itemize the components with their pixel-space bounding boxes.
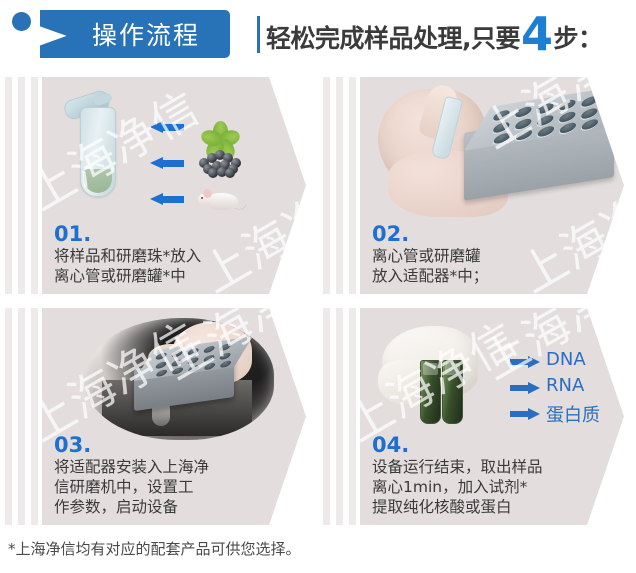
decorative-strip: [349, 77, 356, 294]
arrow-left-icon: [150, 193, 184, 205]
section-banner-label: 操作流程: [40, 10, 230, 58]
decorative-strip: [18, 308, 25, 525]
output-label-dna: DNA: [546, 349, 586, 370]
grinder-machine-photo: [84, 318, 274, 440]
step-text-line: 设备运行结束，取出样品: [372, 457, 622, 477]
decorative-strip: [323, 308, 330, 525]
page-title-suffix: 步：: [554, 19, 603, 55]
footer-note: *上海净信均有对应的配套产品可供您选择。: [8, 538, 301, 559]
header-divider: [257, 16, 260, 53]
page-title-step-count: 4: [521, 18, 553, 50]
step-text-line: 离心管或研磨罐*中: [54, 266, 304, 286]
step-panel-04: DNA RNA 蛋白质 上海净信 上海净信 04. 设备运行结束，取出样品 离心…: [360, 308, 624, 525]
step-number-02: 02.: [372, 223, 622, 245]
step-text-line: 信研磨机中，设置工: [54, 477, 304, 497]
step-number-03: 03.: [54, 434, 304, 456]
decorative-dot-icon: [12, 12, 31, 31]
sample-vial-icon: [420, 360, 441, 424]
step-text-line: 将适配器安装入上海净: [54, 457, 304, 477]
sample-vial-icon: [442, 360, 463, 424]
decorative-strip: [336, 77, 343, 294]
arrow-right-icon: [510, 382, 540, 394]
adapter-block-icon: [464, 109, 614, 201]
decorative-strip: [323, 77, 330, 294]
decorative-strip: [18, 77, 25, 294]
decorative-strip: [31, 308, 38, 525]
step-caption-04: 04. 设备运行结束，取出样品 离心1min，加入试剂* 提取纯化核酸或蛋白: [372, 434, 622, 517]
step-panel-01: 上海净信 上海净信 01. 将样品和研磨珠*放入 离心管或研磨罐*中: [42, 77, 306, 294]
arrow-left-icon: [150, 121, 184, 133]
step-card-03: 上海净信 上海净信 03. 将适配器安装入上海净 信研磨机中，设置工 作参数，启…: [0, 301, 318, 532]
decorative-strip: [5, 308, 12, 525]
steps-grid: 上海净信 上海净信 01. 将样品和研磨珠*放入 离心管或研磨罐*中: [0, 70, 636, 532]
page-header: 操作流程 轻松完成样品处理,只要 4 步：: [0, 0, 636, 68]
watermark: 上海净信: [42, 77, 210, 224]
step-card-04: DNA RNA 蛋白质 上海净信 上海净信 04. 设备运行结束，取出样品 离心…: [318, 301, 636, 532]
step-text-line: 将样品和研磨珠*放入: [54, 246, 304, 266]
page-title-prefix: 轻松完成样品处理,只要: [266, 19, 520, 55]
decorative-strip: [349, 308, 356, 525]
step-card-01: 上海净信 上海净信 01. 将样品和研磨珠*放入 离心管或研磨罐*中: [0, 70, 318, 301]
arrow-left-icon: [150, 157, 184, 169]
output-label-protein: 蛋白质: [546, 401, 600, 427]
page-title: 轻松完成样品处理,只要 4 步：: [266, 15, 603, 55]
step-caption-02: 02. 离心管或研磨罐 放入适配器*中；: [372, 223, 622, 286]
decorative-strip: [31, 77, 38, 294]
step-text-line: 提取纯化核酸或蛋白: [372, 497, 622, 517]
step-text-line: 作参数，启动设备: [54, 497, 304, 517]
step-number-04: 04.: [372, 434, 622, 456]
arrow-right-icon: [510, 408, 540, 420]
plant-leaf-icon: [200, 107, 238, 143]
step-caption-01: 01. 将样品和研磨珠*放入 离心管或研磨罐*中: [54, 223, 304, 286]
step-panel-02: 上海净信 上海净信 02. 离心管或研磨罐 放入适配器*中；: [360, 77, 624, 294]
step-panel-03: 上海净信 上海净信 03. 将适配器安装入上海净 信研磨机中，设置工 作参数，启…: [42, 308, 306, 525]
centrifuge-tube-icon: [80, 107, 116, 197]
output-label-rna: RNA: [546, 375, 584, 396]
grinding-beads-icon: [197, 149, 243, 175]
step-number-01: 01.: [54, 223, 304, 245]
decorative-strip: [5, 77, 12, 294]
decorative-strip: [336, 308, 343, 525]
lab-mouse-icon: [198, 187, 242, 211]
arrow-right-icon: [510, 356, 540, 368]
step-text-line: 离心1min，加入试剂*: [372, 477, 622, 497]
step-card-02: 上海净信 上海净信 02. 离心管或研磨罐 放入适配器*中；: [318, 70, 636, 301]
infographic-page: 操作流程 轻松完成样品处理,只要 4 步：: [0, 0, 636, 573]
step-caption-03: 03. 将适配器安装入上海净 信研磨机中，设置工 作参数，启动设备: [54, 434, 304, 517]
step-text-line: 离心管或研磨罐: [372, 246, 622, 266]
step-text-line: 放入适配器*中；: [372, 266, 622, 286]
